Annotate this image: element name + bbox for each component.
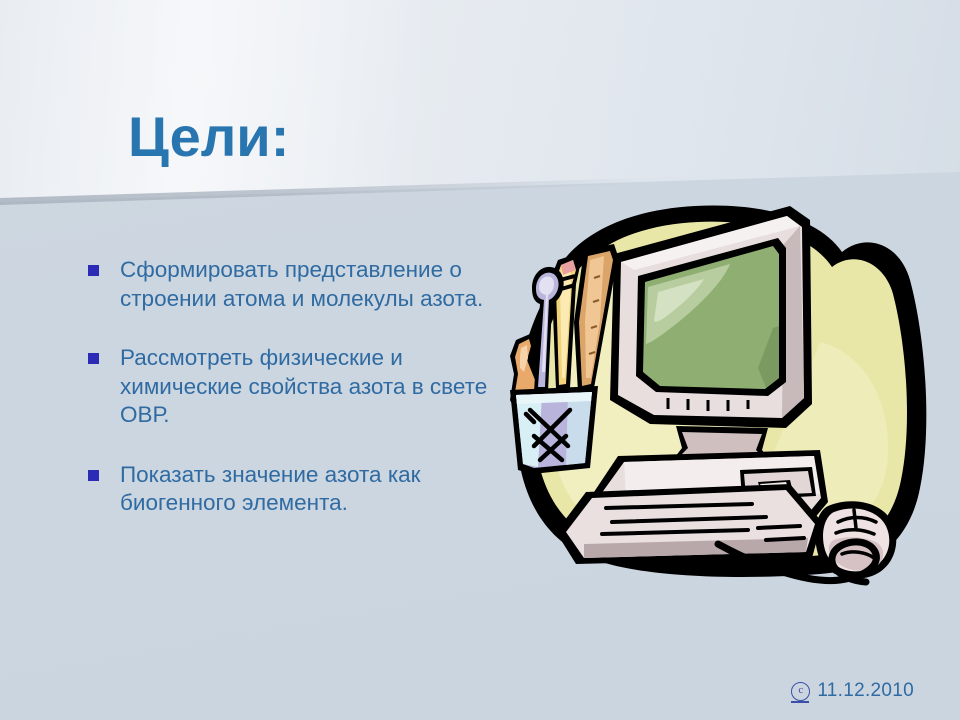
square-bullet-icon (88, 265, 99, 276)
objectives-list: Сформировать представление о строении ат… (88, 256, 508, 549)
desktop-computer-clipart (490, 192, 950, 612)
slide-title: Цели: (128, 108, 289, 167)
list-item: Сформировать представление о строении ат… (88, 256, 508, 313)
copyright-icon: c (791, 682, 810, 701)
slide-date: 11.12.2010 (817, 680, 914, 702)
square-bullet-icon (88, 353, 99, 364)
presentation-slide: Цели: Сформировать представление о строе… (0, 0, 960, 720)
list-item-text: Сформировать представление о строении ат… (120, 256, 508, 313)
list-item-text: Показать значение азота как биогенного э… (120, 461, 508, 518)
list-item: Рассмотреть физические и химические свой… (88, 344, 508, 430)
list-item-text: Рассмотреть физические и химические свой… (120, 344, 508, 430)
slide-footer: c 11.12.2010 (791, 680, 914, 702)
square-bullet-icon (88, 470, 99, 481)
list-item: Показать значение азота как биогенного э… (88, 461, 508, 518)
